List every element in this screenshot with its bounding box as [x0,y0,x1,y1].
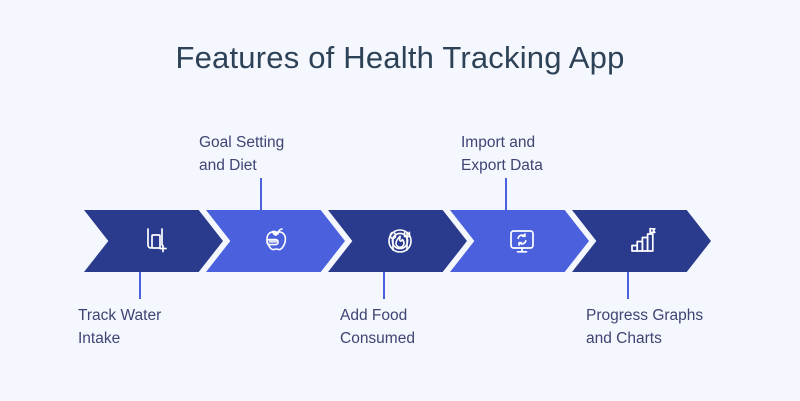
water-glass-plus-icon [138,223,174,259]
process-chevron-strip [84,210,716,272]
step-label-goal-setting: Goal Setting and Diet [199,131,284,177]
apple-measuring-tape-icon [260,223,296,259]
step-chevron-track-water[interactable] [84,210,223,272]
step-chevron-add-food[interactable] [328,210,467,272]
bar-chart-flag-icon [626,223,662,259]
monitor-sync-icon [504,223,540,259]
step-label-add-food: Add Food Consumed [340,304,415,350]
step-label-progress-graphs: Progress Graphs and Charts [586,304,703,350]
step-chevron-progress-graphs[interactable] [572,210,711,272]
step-label-track-water: Track Water Intake [78,304,161,350]
step-chevron-goal-setting[interactable] [206,210,345,272]
infographic-canvas: Features of Health Tracking App Goal Set… [0,0,800,401]
page-title: Features of Health Tracking App [0,40,800,76]
step-chevron-import-export[interactable] [450,210,589,272]
plate-fork-spoon-flame-icon [382,223,418,259]
step-label-import-export: Import and Export Data [461,131,543,177]
